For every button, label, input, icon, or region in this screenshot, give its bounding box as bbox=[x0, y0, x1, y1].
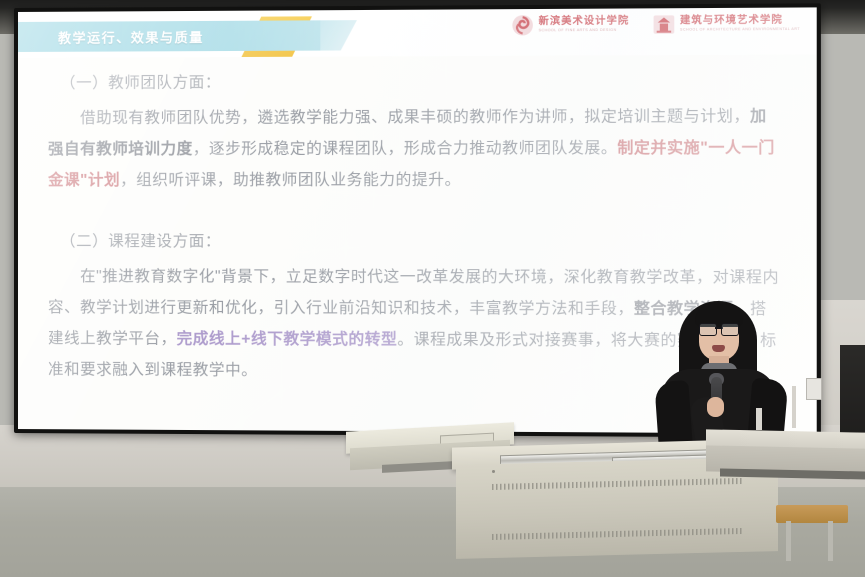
section-one-heading: （一）教师团队方面： bbox=[48, 65, 781, 99]
chair-leg-left bbox=[786, 521, 791, 561]
presenter-mouth bbox=[712, 345, 725, 352]
presenter-glasses bbox=[699, 323, 739, 334]
s2-purple-online-offline: 完成线上+线下教学模 bbox=[177, 330, 332, 348]
section-spacer bbox=[48, 200, 781, 227]
logo-architecture: 建筑与环境艺术学院 SCHOOL OF ARCHITECTURE AND ENV… bbox=[652, 13, 800, 36]
glasses-lens-right bbox=[721, 323, 739, 336]
wall-outlet bbox=[806, 378, 822, 400]
pagoda-logo-mark-icon bbox=[652, 13, 675, 36]
chair-leg-right bbox=[828, 521, 833, 561]
slide-title: 教学运行、效果与质量 bbox=[58, 27, 204, 47]
lecture-hall-photo: 教学运行、效果与质量 新滨美术设计学院 SCHOOL OF FINE ARTS … bbox=[0, 0, 865, 577]
swirl-logo-mark-icon bbox=[511, 14, 534, 36]
presenter-hand bbox=[707, 397, 724, 417]
s2-line1: 在"推进教育数字化"背景下，立足数字时代这一改革发展的大环境，深化教育 bbox=[80, 268, 630, 286]
s2-line5: 学中。 bbox=[209, 362, 258, 379]
logo-fine-arts-text: 新滨美术设计学院 SCHOOL OF FINE ARTS AND DESIGN bbox=[539, 17, 630, 33]
logo-architecture-en: SCHOOL OF ARCHITECTURE AND ENVIRONMENTAL… bbox=[680, 28, 800, 32]
section-one-text: 借助现有教师团队优势，遴选教学能力强、成果丰硕的教师作为讲师，拟定培训主题与计划… bbox=[48, 101, 781, 196]
glasses-lens-left bbox=[699, 323, 717, 336]
logo-fine-arts: 新滨美术设计学院 SCHOOL OF FINE ARTS AND DESIGN bbox=[511, 14, 629, 37]
section-two-heading: （二）课程建设方面： bbox=[48, 226, 781, 258]
s2-line3a: 富教学方法和手段， bbox=[486, 300, 634, 318]
logo-architecture-text: 建筑与环境艺术学院 SCHOOL OF ARCHITECTURE AND ENV… bbox=[680, 16, 800, 33]
header-logos: 新滨美术设计学院 SCHOOL OF FINE ARTS AND DESIGN bbox=[511, 13, 800, 37]
desk-microphone-stand bbox=[756, 408, 762, 430]
s1-line4: 能力的提升。 bbox=[363, 171, 461, 188]
s1-line3a: 教师团队发展。 bbox=[502, 140, 617, 157]
logo-fine-arts-en: SCHOOL OF FINE ARTS AND DESIGN bbox=[539, 29, 630, 33]
equipment-pole bbox=[792, 386, 796, 428]
slide-header: 教学运行、效果与质量 新滨美术设计学院 SCHOOL OF FINE ARTS … bbox=[18, 7, 817, 58]
logo-fine-arts-cn: 新滨美术设计学院 bbox=[539, 17, 630, 28]
s1-line1: 借助现有教师团队优势，遴选教学能力强、成果丰硕的教师作为讲师，拟定培 bbox=[80, 108, 634, 127]
s2-purple-transform: 式的转型 bbox=[332, 331, 397, 348]
logo-architecture-cn: 建筑与环境艺术学院 bbox=[680, 16, 800, 27]
s1-line3b: ，组织听评课，助推教师团队业务 bbox=[120, 172, 363, 189]
s1-line2b: ，逐步形成稳定的课程团队，形成合力推动 bbox=[193, 140, 502, 158]
s1-line2a: 训主题与计划， bbox=[634, 108, 750, 126]
